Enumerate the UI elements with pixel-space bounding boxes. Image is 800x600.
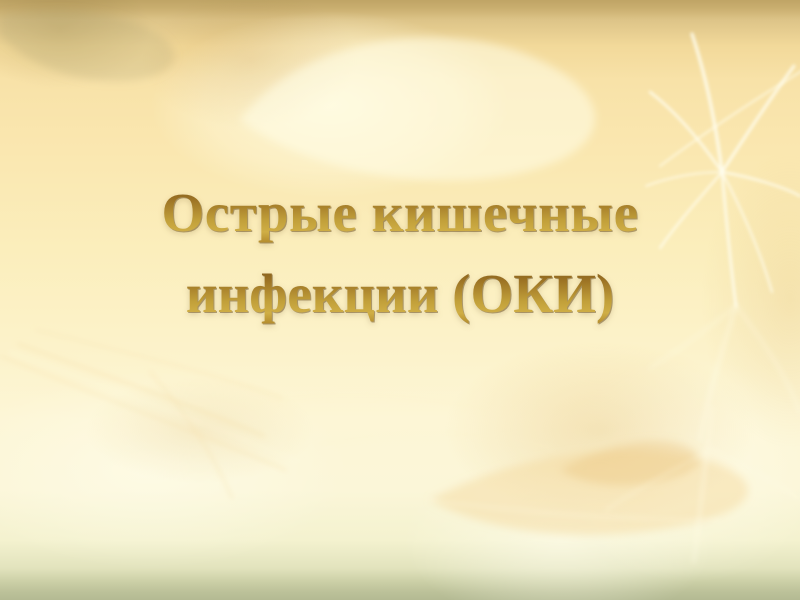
leaf-blade-top-left — [0, 10, 174, 81]
slide-title-line-2: инфекции (ОКИ) — [0, 253, 800, 334]
leaf-vein-bottom-right — [430, 408, 800, 562]
leaf-vein-center-streak — [660, 18, 800, 166]
leaf-vein-left-highlight — [10, 352, 300, 462]
presentation-slide: Острые кишечные инфекции (ОКИ) — [0, 0, 800, 600]
slide-title: Острые кишечные инфекции (ОКИ) — [0, 172, 800, 334]
leaf-vein-center-bottom — [250, 396, 552, 448]
slide-title-line-1: Острые кишечные — [0, 172, 800, 253]
leaf-blade-top-center — [240, 37, 595, 180]
leaf-vein-left — [0, 330, 286, 498]
leaf-blade-bottom-right — [430, 441, 748, 535]
